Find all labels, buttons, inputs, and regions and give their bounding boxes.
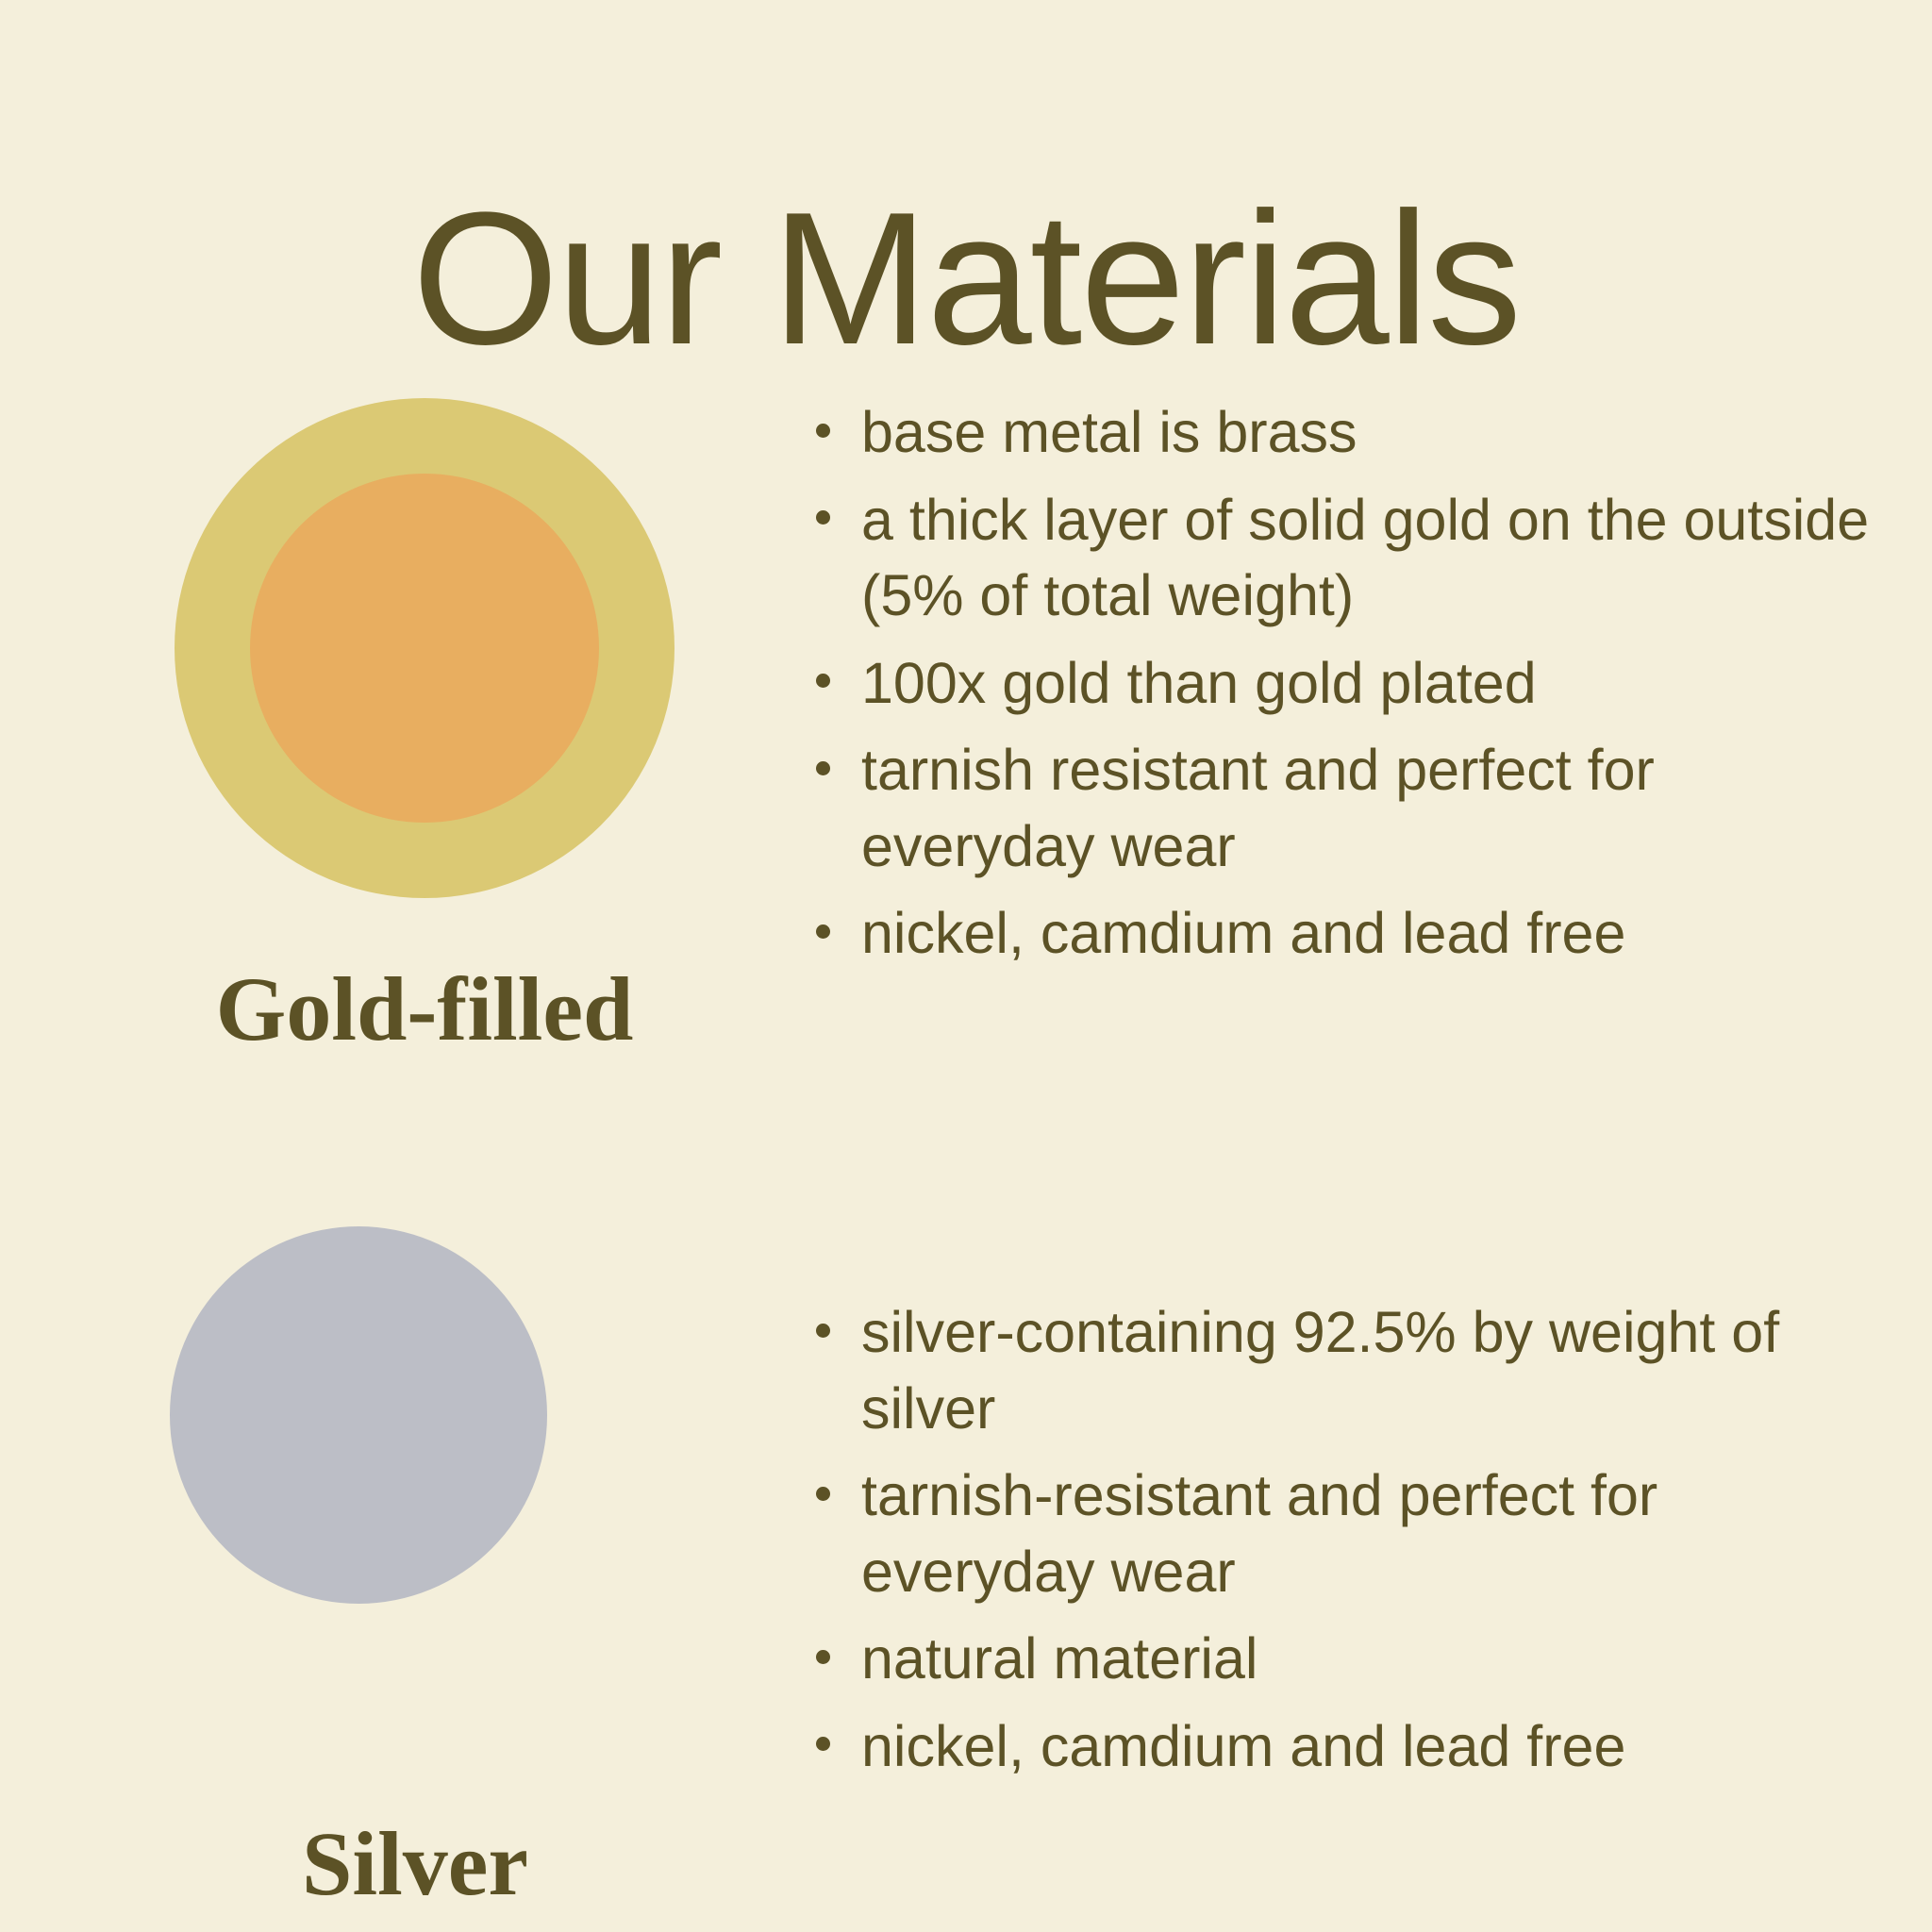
silver-circle-icon	[170, 1226, 547, 1604]
list-item: tarnish-resistant and perfect for everyd…	[807, 1457, 1873, 1609]
list-item-text: base metal is brass	[861, 394, 1873, 471]
infographic-page: Our Materials Gold-filled base metal is …	[0, 0, 1932, 1932]
list-item-text: tarnish resistant and perfect for everyd…	[861, 732, 1873, 884]
list-item-text: nickel, camdium and lead free	[861, 895, 1873, 972]
bullet-dot-icon	[816, 424, 830, 438]
gold-filled-bullet-list: base metal is brass a thick layer of sol…	[807, 394, 1873, 972]
bullet-dot-icon	[816, 1650, 830, 1664]
bullet-dot-icon	[816, 510, 830, 525]
gold-filled-label: Gold-filled	[0, 964, 849, 1055]
list-item: base metal is brass	[807, 394, 1873, 471]
list-item-text: silver-containing 92.5% by weight of sil…	[861, 1294, 1873, 1446]
list-item: natural material	[807, 1621, 1873, 1697]
bullet-dot-icon	[816, 1487, 830, 1501]
page-title: Our Materials	[0, 185, 1932, 374]
list-item: nickel, camdium and lead free	[807, 895, 1873, 972]
bullet-dot-icon	[816, 924, 830, 939]
silver-bullet-list: silver-containing 92.5% by weight of sil…	[807, 1294, 1873, 1784]
list-item-text: a thick layer of solid gold on the outsi…	[861, 482, 1873, 634]
list-item: 100x gold than gold plated	[807, 645, 1873, 722]
silver-swatch	[170, 1226, 547, 1604]
bullet-dot-icon	[816, 761, 830, 775]
bullet-dot-icon	[816, 674, 830, 688]
list-item: nickel, camdium and lead free	[807, 1708, 1873, 1785]
list-item: tarnish resistant and perfect for everyd…	[807, 732, 1873, 884]
list-item: a thick layer of solid gold on the outsi…	[807, 482, 1873, 634]
gold-inner-circle-icon	[250, 474, 599, 823]
list-item-text: natural material	[861, 1621, 1873, 1697]
list-item-text: tarnish-resistant and perfect for everyd…	[861, 1457, 1873, 1609]
list-item: silver-containing 92.5% by weight of sil…	[807, 1294, 1873, 1446]
list-item-text: nickel, camdium and lead free	[861, 1708, 1873, 1785]
list-item-text: 100x gold than gold plated	[861, 645, 1873, 722]
silver-label: Silver	[0, 1819, 830, 1909]
bullet-dot-icon	[816, 1324, 830, 1338]
gold-filled-swatch	[175, 398, 675, 898]
bullet-dot-icon	[816, 1737, 830, 1751]
